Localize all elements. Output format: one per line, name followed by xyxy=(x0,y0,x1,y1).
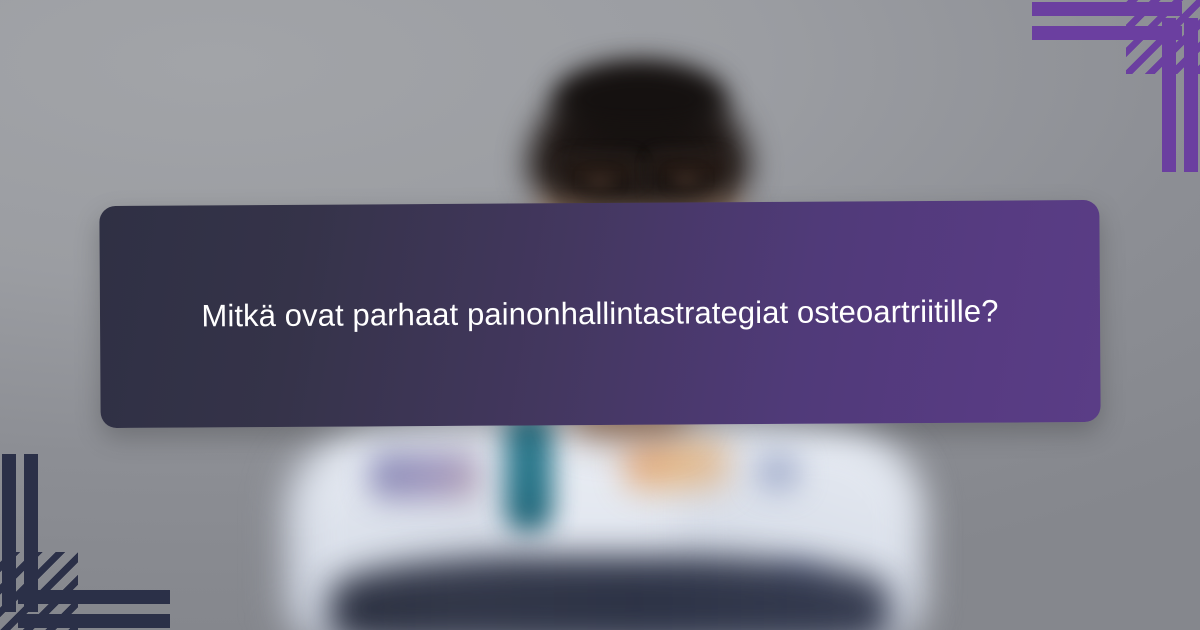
coat-detail-blue-small xyxy=(756,452,800,492)
corner-stripes-top-right xyxy=(1032,0,1200,172)
diagonal-hatch-bottom-left xyxy=(0,552,78,630)
eye-left xyxy=(586,175,614,188)
diagonal-hatch-top-right xyxy=(1126,0,1200,74)
eye-right xyxy=(672,173,700,186)
stethoscope xyxy=(505,412,553,532)
coat-detail-orange xyxy=(625,438,730,490)
doctor-hair-top xyxy=(555,62,725,132)
page-title: Mitkä ovat parhaat painonhallintastrateg… xyxy=(201,288,998,341)
coat-detail-blue xyxy=(370,452,480,500)
social-card-canvas: Mitkä ovat parhaat painonhallintastrateg… xyxy=(0,0,1200,630)
headline-banner-wrapper: Mitkä ovat parhaat painonhallintastrateg… xyxy=(99,200,1100,428)
corner-stripes-bottom-left xyxy=(0,454,172,630)
crossed-arms xyxy=(330,556,890,630)
headline-banner: Mitkä ovat parhaat painonhallintastrateg… xyxy=(99,200,1100,428)
